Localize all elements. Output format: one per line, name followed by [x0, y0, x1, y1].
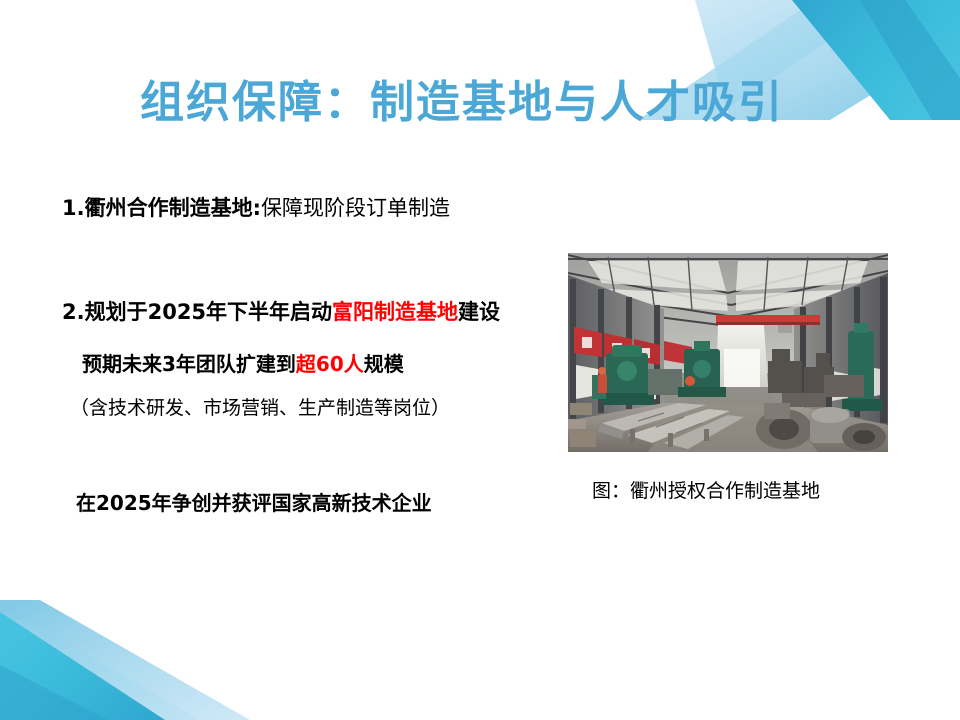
bullet-1-label: 1.衢州合作制造基地:	[62, 196, 261, 220]
bullet-2-highlight: 富阳制造基地	[332, 300, 458, 324]
bullet-line-5: 在2025年争创并获评国家高新技术企业	[76, 491, 432, 515]
bullet-line-4: （含技术研发、市场营销、生产制造等岗位）	[70, 397, 450, 420]
bullet-3-highlight: 超60人	[296, 352, 364, 376]
bullet-3-suffix: 规模	[364, 352, 404, 376]
bullet-2-suffix: 建设	[458, 300, 500, 324]
bullet-line-2: 2.规划于2025年下半年启动富阳制造基地建设	[62, 300, 500, 325]
bullet-line-3: 预期未来3年团队扩建到超60人规模	[82, 352, 404, 376]
bullet-2-prefix: 2.规划于2025年下半年启动	[62, 300, 332, 324]
figure-caption: 图：衢州授权合作制造基地	[592, 476, 820, 503]
factory-photo	[568, 253, 888, 452]
bullet-line-1: 1.衢州合作制造基地:保障现阶段订单制造	[62, 196, 450, 221]
bullet-1-text: 保障现阶段订单制造	[261, 196, 450, 220]
bullet-3-prefix: 预期未来3年团队扩建到	[82, 352, 296, 376]
